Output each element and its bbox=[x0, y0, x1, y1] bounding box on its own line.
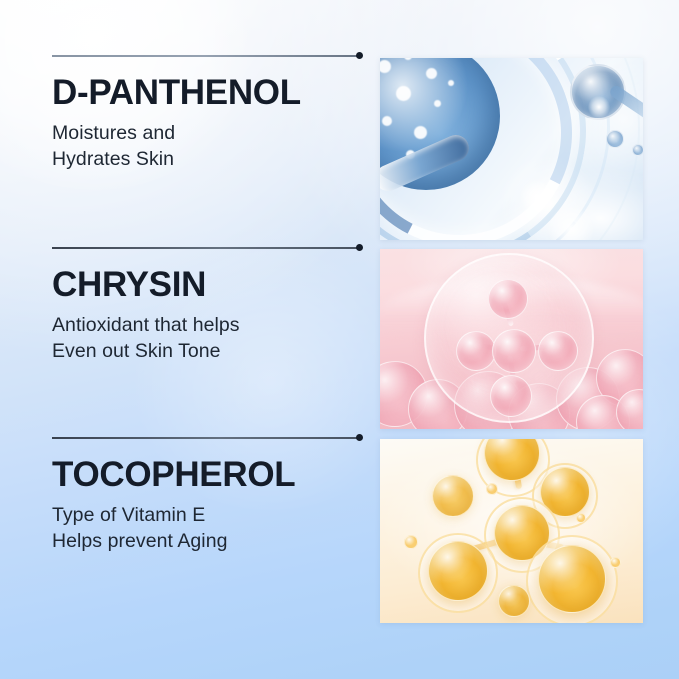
speck bbox=[434, 100, 441, 107]
ingredient-title-tocopherol: TOCOPHEROL bbox=[52, 456, 362, 493]
ingredient-section-chrysin: CHRYSIN Antioxidant that helps Even out … bbox=[0, 240, 679, 430]
description-line-2: Helps prevent Aging bbox=[52, 528, 362, 554]
divider-rule bbox=[52, 247, 357, 249]
oil-node-bottom bbox=[498, 585, 530, 617]
light-glow bbox=[588, 96, 610, 118]
oil-droplet-small bbox=[404, 535, 418, 549]
section-divider-1 bbox=[52, 55, 363, 57]
section-text-3: TOCOPHEROL Type of Vitamin E Helps preve… bbox=[52, 456, 362, 554]
speck bbox=[380, 60, 391, 73]
description-line-2: Even out Skin Tone bbox=[52, 338, 362, 364]
description-line-1: Moistures and bbox=[52, 120, 362, 146]
divider-end-dot bbox=[356, 434, 363, 441]
description-line-1: Antioxidant that helps bbox=[52, 312, 362, 338]
section-divider-2 bbox=[52, 247, 363, 249]
molecule-node-top bbox=[488, 279, 528, 319]
blue-droplet-small bbox=[632, 144, 643, 156]
section-text-2: CHRYSIN Antioxidant that helps Even out … bbox=[52, 266, 362, 364]
speck bbox=[382, 116, 392, 126]
light-glow bbox=[520, 180, 554, 214]
oil-droplet-small bbox=[576, 513, 586, 523]
divider-rule bbox=[52, 55, 357, 57]
molecule-node-center bbox=[492, 329, 536, 373]
oil-droplet-small bbox=[486, 483, 498, 495]
ingredient-title-d-panthenol: D-PANTHENOL bbox=[52, 74, 362, 111]
speck bbox=[396, 86, 411, 101]
section-divider-3 bbox=[52, 437, 363, 439]
speck bbox=[414, 126, 427, 139]
ingredient-section-tocopherol: TOCOPHEROL Type of Vitamin E Helps preve… bbox=[0, 430, 679, 624]
molecule-node-right bbox=[538, 331, 578, 371]
speck bbox=[448, 80, 454, 86]
section-text-1: D-PANTHENOL Moistures and Hydrates Skin bbox=[52, 74, 362, 172]
oil-droplet-small bbox=[610, 557, 621, 568]
ingredient-section-d-panthenol: D-PANTHENOL Moistures and Hydrates Skin bbox=[0, 48, 679, 240]
image-canvas bbox=[380, 58, 643, 240]
ingredient-description-d-panthenol: Moistures and Hydrates Skin bbox=[52, 120, 362, 172]
blue-droplet-small bbox=[606, 130, 624, 148]
divider-rule bbox=[52, 437, 357, 439]
speck bbox=[426, 68, 437, 79]
divider-end-dot bbox=[356, 244, 363, 251]
oil-node-lower-right bbox=[538, 545, 606, 613]
ingredient-benefits-poster: D-PANTHENOL Moistures and Hydrates Skin bbox=[0, 0, 679, 679]
light-glow bbox=[548, 206, 594, 240]
ingredient-title-chrysin: CHRYSIN bbox=[52, 266, 362, 303]
ingredient-description-tocopherol: Type of Vitamin E Helps prevent Aging bbox=[52, 502, 362, 554]
ingredient-image-pink-molecule bbox=[380, 249, 643, 429]
ingredient-description-chrysin: Antioxidant that helps Even out Skin Ton… bbox=[52, 312, 362, 364]
description-line-2: Hydrates Skin bbox=[52, 146, 362, 172]
ingredient-image-golden-oil-molecule bbox=[380, 439, 643, 623]
description-line-1: Type of Vitamin E bbox=[52, 502, 362, 528]
oil-node-lower-left bbox=[428, 541, 488, 601]
ingredient-image-blue-water-bubble bbox=[380, 58, 643, 240]
molecule-node-left bbox=[456, 331, 496, 371]
divider-end-dot bbox=[356, 52, 363, 59]
oil-node-upper-left bbox=[432, 475, 474, 517]
speck bbox=[404, 58, 412, 60]
molecule-node-bottom bbox=[490, 375, 532, 417]
image-canvas bbox=[380, 439, 643, 623]
image-canvas bbox=[380, 249, 643, 429]
